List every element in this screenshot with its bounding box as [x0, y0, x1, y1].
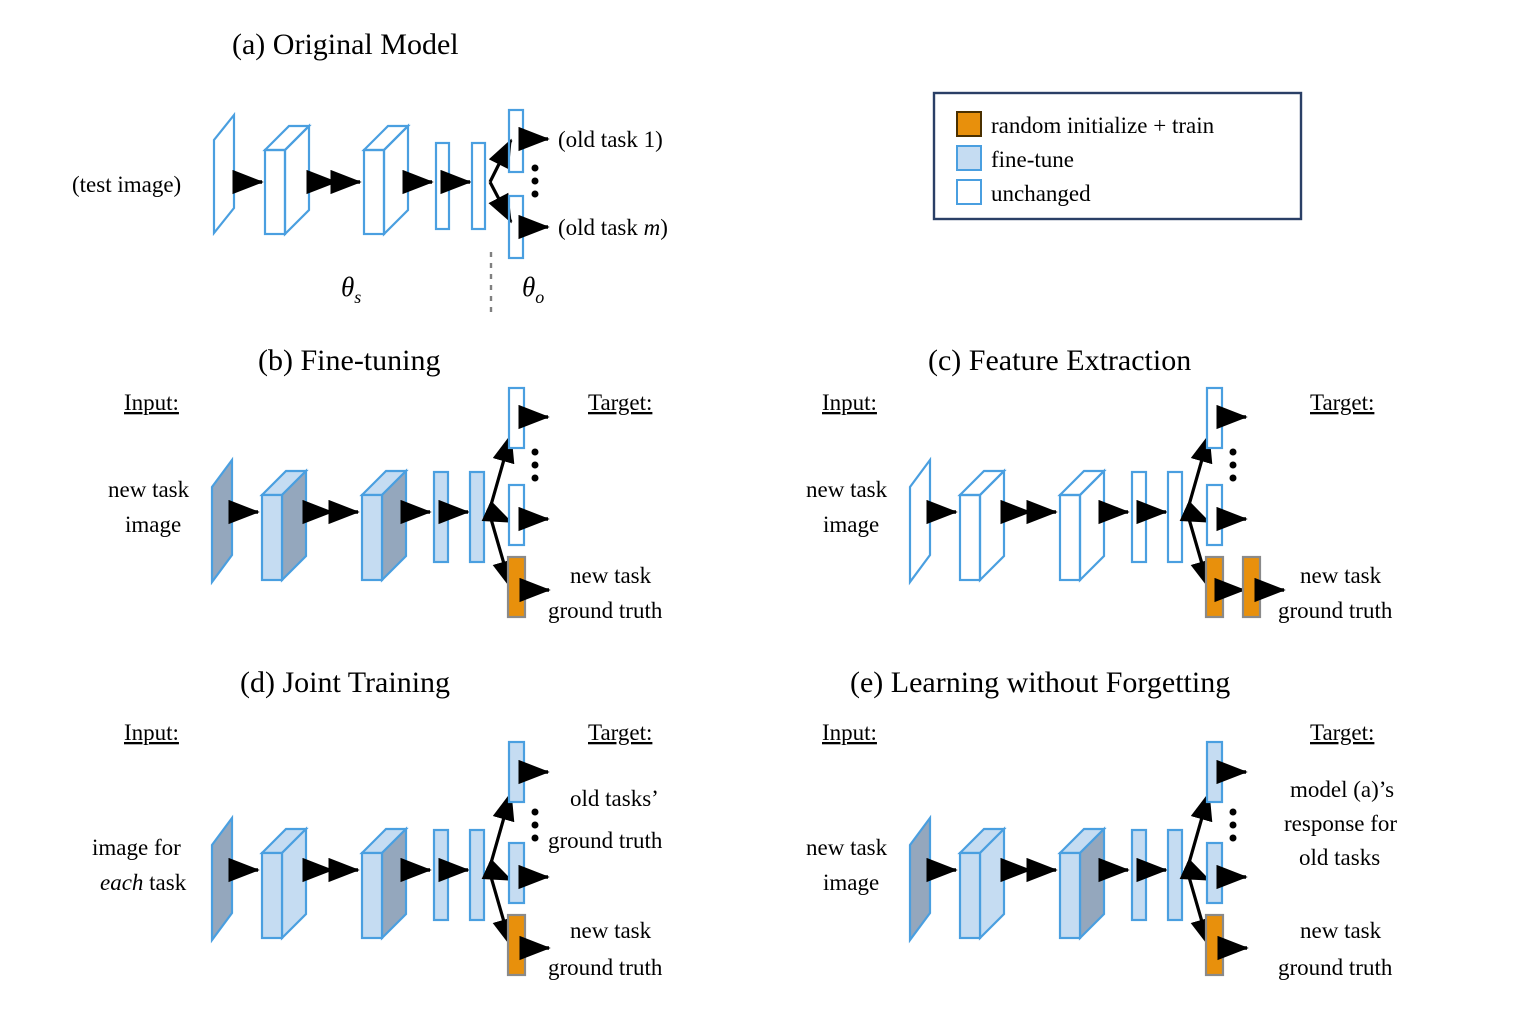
- panel-a-fc-1: [436, 143, 449, 229]
- panel-b-ellipsis-vertical: [532, 449, 539, 482]
- panel-e-branch-arrow-top: [1187, 793, 1209, 870]
- panel-e-head-old-1: [1207, 742, 1222, 802]
- panel-a-input-label: (test image): [72, 172, 181, 197]
- panel-e-conv-block-2: [1060, 829, 1104, 938]
- legend-border: [934, 93, 1301, 219]
- legend-swatch-orange: [957, 112, 981, 136]
- panel-d: (d) Joint Training Input: Target: image …: [92, 666, 663, 980]
- panel-d-input-heading: Input:: [124, 720, 179, 745]
- panel-a-head-1-label: (old task 1): [558, 127, 663, 152]
- panel-c-branch-arrow-top: [1187, 435, 1209, 512]
- panel-e-fc-2: [1168, 830, 1182, 920]
- panel-e-input-plane: [910, 818, 930, 940]
- panel-c-ellipsis-horizontal: [1003, 510, 1034, 517]
- legend-label-unchanged: unchanged: [991, 181, 1091, 206]
- panel-e-fc-1: [1132, 830, 1146, 920]
- panel-b-conv-block-2: [362, 471, 406, 580]
- panel-d-target-old-line2: ground truth: [548, 828, 663, 853]
- panel-b-input-label-line2: image: [125, 512, 181, 537]
- panel-e-conv-block-1: [960, 829, 1004, 938]
- panel-b-title: (b) Fine-tuning: [258, 344, 440, 377]
- panel-d-ellipsis-vertical: [532, 809, 539, 842]
- panel-a-theta-o: θo: [522, 272, 544, 307]
- panel-a-ellipsis-horizontal: [307, 180, 338, 187]
- panel-a-input-plane: [214, 115, 234, 233]
- panel-b-fc-1: [434, 472, 448, 562]
- panel-b-conv-block-1: [262, 471, 306, 580]
- panel-b-fc-2: [470, 472, 484, 562]
- panel-c: (c) Feature Extraction Input: Target: ne…: [806, 344, 1393, 623]
- panel-b-input-plane: [212, 460, 232, 582]
- panel-d-title: (d) Joint Training: [240, 666, 450, 699]
- panel-a-conv-block-2: [364, 126, 408, 234]
- panel-e-ellipsis-horizontal: [1003, 868, 1034, 875]
- panel-c-head-new-fc: [1206, 557, 1223, 617]
- panel-b: (b) Fine-tuning Input: Target: new task …: [108, 344, 663, 623]
- panel-b-head-new-task: [508, 557, 525, 617]
- panel-d-target-heading: Target:: [588, 720, 652, 745]
- panel-c-fc-2: [1168, 472, 1182, 562]
- panel-a-branch-arrow-top: [490, 140, 511, 182]
- panel-a-head-m-label: (old task m): [558, 215, 668, 240]
- panel-e-target-new-line1: new task: [1300, 918, 1382, 943]
- panel-d-head-new-task: [508, 915, 525, 975]
- panel-b-target-label-line1: new task: [570, 563, 652, 588]
- figure-canvas: (a) Original Model (test image): [0, 0, 1514, 1025]
- panel-b-ellipsis-horizontal: [305, 510, 336, 517]
- panel-e-target-old-line2: response for: [1284, 811, 1397, 836]
- panel-a-theta-s: θs: [341, 272, 361, 307]
- panel-d-input-label-line2: each task: [100, 870, 187, 895]
- panel-c-head-old-1: [1207, 388, 1222, 448]
- panel-b-target-heading: Target:: [588, 390, 652, 415]
- panel-b-input-heading: Input:: [124, 390, 179, 415]
- panel-e-input-heading: Input:: [822, 720, 877, 745]
- panel-d-target-new-line2: ground truth: [548, 955, 663, 980]
- panel-b-head-old-m: [509, 485, 524, 545]
- panel-c-ellipsis-vertical: [1230, 449, 1237, 482]
- panel-d-input-label-line1: image for: [92, 835, 181, 860]
- panel-a-branch-arrow-bottom: [490, 182, 511, 222]
- panel-c-title: (c) Feature Extraction: [928, 344, 1191, 377]
- panel-c-target-label-line2: ground truth: [1278, 598, 1393, 623]
- panel-e-target-old-line1: model (a)’s: [1290, 777, 1394, 802]
- panel-e-input-label-line1: new task: [806, 835, 888, 860]
- panel-d-input-plane: [212, 818, 232, 940]
- panel-d-conv-block-1: [262, 829, 306, 938]
- panel-d-fc-2: [470, 830, 484, 920]
- panel-a-title: (a) Original Model: [232, 28, 459, 61]
- panel-d-target-old-line1: old tasks’: [570, 786, 659, 811]
- panel-d-target-new-line1: new task: [570, 918, 652, 943]
- panel-d-ellipsis-horizontal: [305, 868, 336, 875]
- panel-e-head-new-task: [1206, 915, 1223, 975]
- panel-a-head-m: [509, 196, 523, 258]
- panel-e: (e) Learning without Forgetting Input: T…: [806, 666, 1397, 980]
- panel-a-ellipsis-vertical: [532, 165, 539, 198]
- panel-e-target-heading: Target:: [1310, 720, 1374, 745]
- panel-b-branch-arrow-top: [489, 435, 511, 512]
- panel-d-conv-block-2: [362, 829, 406, 938]
- panel-d-branch-arrow-top: [489, 793, 511, 870]
- panel-d-head-old-m: [509, 843, 524, 903]
- panel-e-title: (e) Learning without Forgetting: [850, 666, 1230, 699]
- panel-c-fc-1: [1132, 472, 1146, 562]
- panel-c-conv-block-1: [960, 471, 1004, 580]
- panel-e-ellipsis-vertical: [1230, 809, 1237, 842]
- legend-label-orange: random initialize + train: [991, 113, 1215, 138]
- legend-swatch-finetune: [957, 146, 981, 170]
- panel-e-target-new-line2: ground truth: [1278, 955, 1393, 980]
- panel-e-target-old-line3: old tasks: [1299, 845, 1380, 870]
- panel-c-input-label-line2: image: [823, 512, 879, 537]
- panel-e-head-old-m: [1207, 843, 1222, 903]
- panel-d-head-old-1: [509, 742, 524, 802]
- panel-a: (a) Original Model (test image): [72, 28, 668, 312]
- panel-d-fc-1: [434, 830, 448, 920]
- panel-c-input-label-line1: new task: [806, 477, 888, 502]
- legend-swatch-unchanged: [957, 180, 981, 204]
- panel-e-input-label-line2: image: [823, 870, 879, 895]
- panel-b-input-label-line1: new task: [108, 477, 190, 502]
- panel-c-head-new-task: [1243, 557, 1260, 617]
- panel-c-input-heading: Input:: [822, 390, 877, 415]
- panel-c-target-label-line1: new task: [1300, 563, 1382, 588]
- legend-label-finetune: fine-tune: [991, 147, 1074, 172]
- panel-c-conv-block-2: [1060, 471, 1104, 580]
- panel-c-input-plane: [910, 460, 930, 582]
- panel-b-target-label-line2: ground truth: [548, 598, 663, 623]
- panel-a-fc-2: [472, 143, 485, 229]
- panel-c-target-heading: Target:: [1310, 390, 1374, 415]
- panel-a-conv-block-1: [265, 126, 309, 234]
- panel-b-head-old-1: [509, 388, 524, 448]
- legend-box: random initialize + train fine-tune unch…: [934, 93, 1301, 219]
- panel-c-head-old-m: [1207, 485, 1222, 545]
